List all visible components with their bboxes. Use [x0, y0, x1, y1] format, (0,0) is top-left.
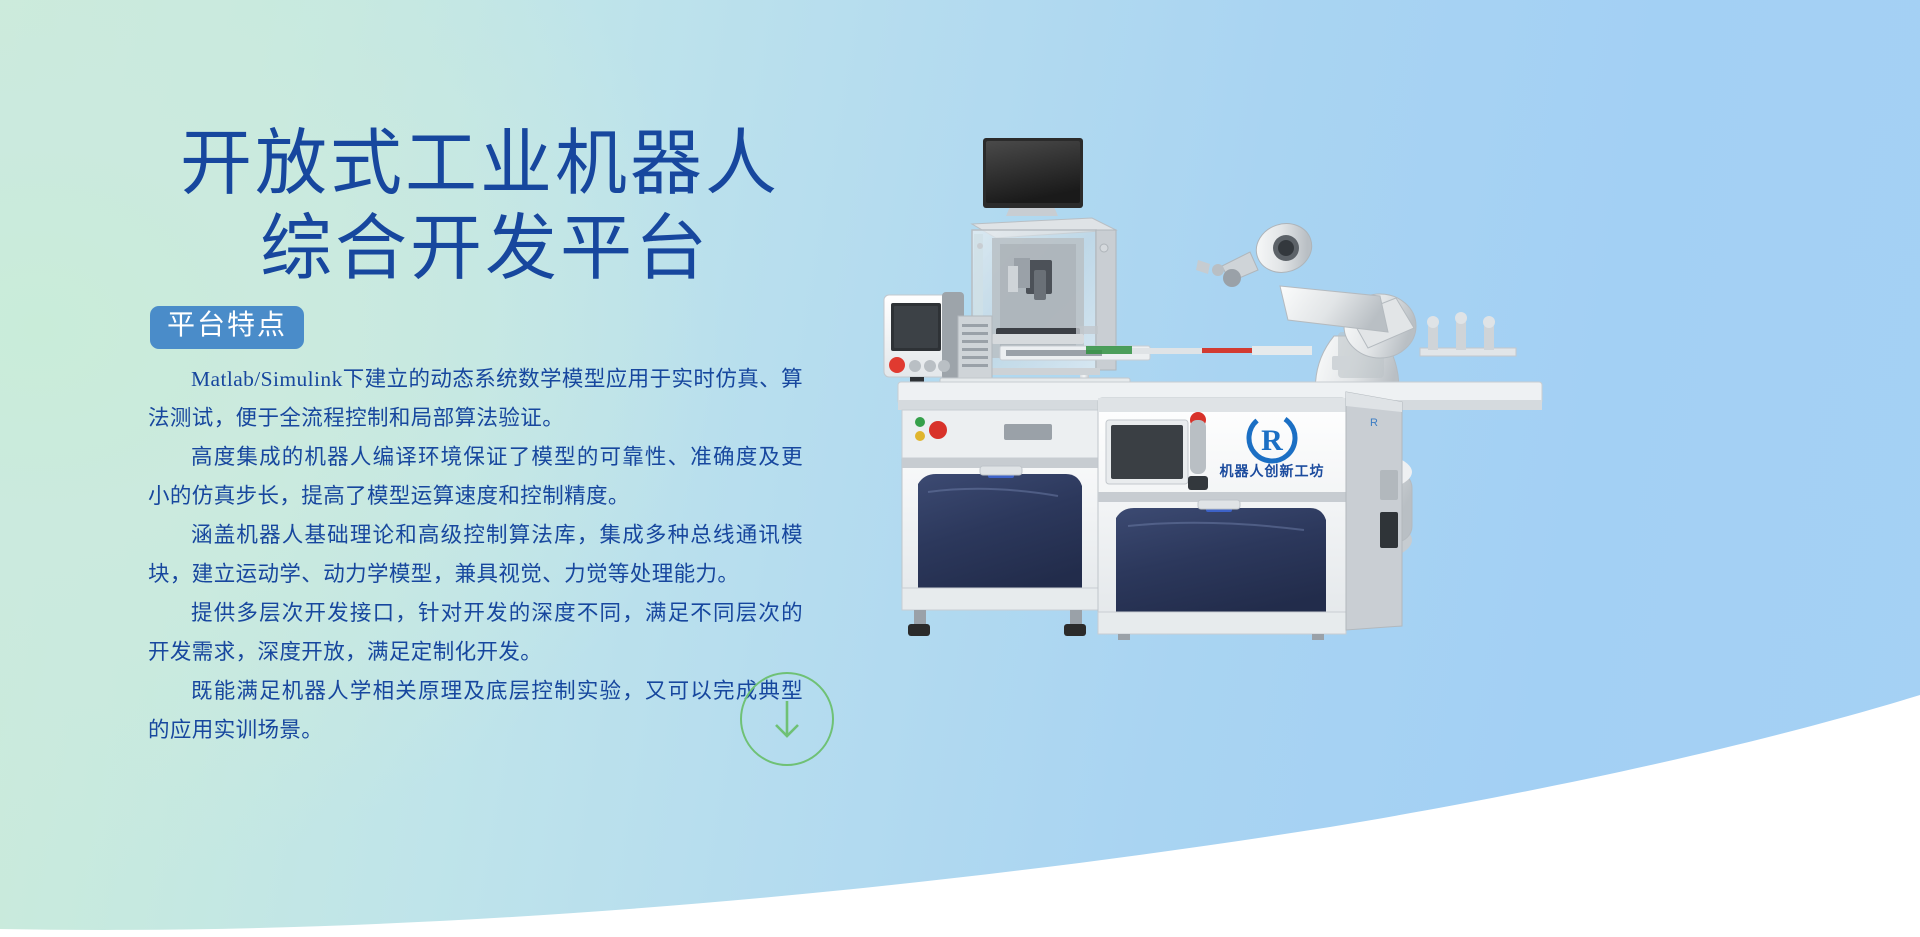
hero-banner: 开放式工业机器人 综合开发平台 平台特点 Matlab/Simulink下建立的… [0, 0, 1920, 937]
scroll-down-button[interactable] [740, 672, 834, 766]
feature-paragraph: Matlab/Simulink下建立的动态系统数学模型应用于实时仿真、算法测试，… [148, 360, 803, 438]
workbench-fixtures [1420, 312, 1516, 356]
left-cabinet [902, 410, 1098, 636]
feature-paragraph: 高度集成的机器人编译环境保证了模型的可靠性、准确度及更小的仿真步长，提高了模型运… [148, 438, 803, 516]
monitor-screen [983, 138, 1083, 208]
banner-content: 开放式工业机器人 综合开发平台 平台特点 Matlab/Simulink下建立的… [0, 0, 1000, 937]
side-cabinet: R [1346, 392, 1402, 630]
robot-workstation-image: R 机器人创新工坊 R [880, 120, 1840, 640]
side-cabinet-logo: R [1370, 417, 1378, 429]
title-line-1: 开放式工业机器人 [150, 122, 940, 207]
cabinet-logo-mark: R [1261, 424, 1283, 457]
right-cabinet: R 机器人创新工坊 [1098, 398, 1346, 640]
title-line-2: 综合开发平台 [150, 207, 940, 292]
page-title: 开放式工业机器人 综合开发平台 [150, 122, 940, 292]
cabinet-logo-text: 机器人创新工坊 [1220, 463, 1325, 479]
feature-paragraph: 提供多层次开发接口，针对开发的深度不同，满足不同层次的开发需求，深度开放，满足定… [148, 594, 803, 672]
section-badge: 平台特点 [150, 306, 304, 349]
feature-paragraph: 既能满足机器人学相关原理及底层控制实验，又可以完成典型的应用实训场景。 [148, 672, 803, 750]
feature-paragraphs: Matlab/Simulink下建立的动态系统数学模型应用于实时仿真、算法测试，… [148, 360, 803, 750]
feature-paragraph: 涵盖机器人基础理论和高级控制算法库，集成多种总线通讯模块，建立运动学、动力学模型… [148, 516, 803, 594]
arrow-down-icon [770, 695, 804, 743]
